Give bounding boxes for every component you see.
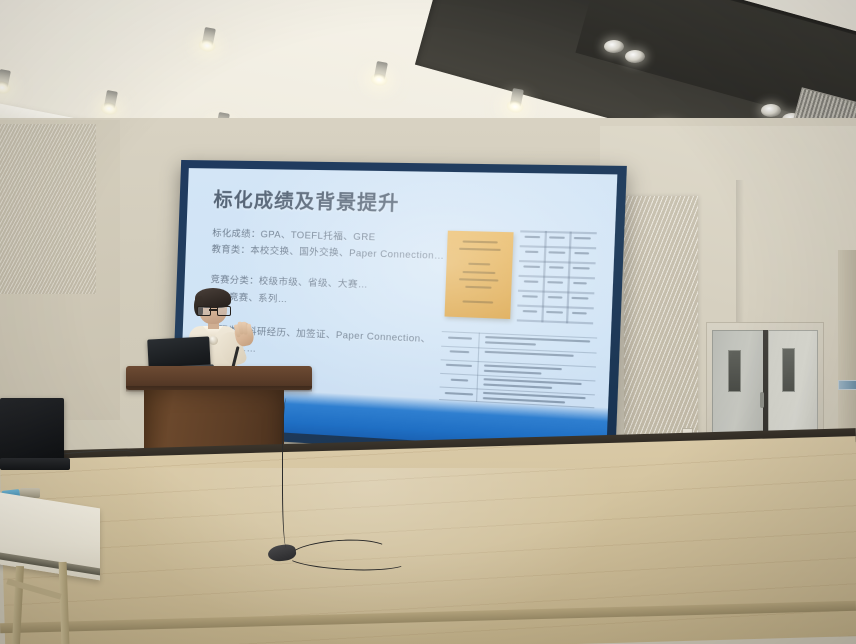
left-wall-texture xyxy=(0,124,96,294)
slide-comparison-table xyxy=(439,331,597,408)
spotlight-icon xyxy=(510,88,524,107)
exit-sign xyxy=(838,380,856,390)
lecture-hall-photo: 标化成绩及背景提升 标化成绩：GPA、TOEFL托福、GRE 教育类：本校交换、… xyxy=(0,0,856,644)
spotlight-icon xyxy=(374,61,388,80)
podium-cable xyxy=(282,398,293,548)
monitor-base xyxy=(0,458,70,470)
downlight-icon xyxy=(625,50,645,63)
spotlight-icon xyxy=(0,69,11,88)
spotlight-icon xyxy=(202,27,216,46)
slide-orange-document-image xyxy=(445,231,514,319)
monitor-screen[interactable] xyxy=(0,398,64,462)
slide-mini-table xyxy=(517,230,597,324)
door-handle[interactable] xyxy=(760,392,764,408)
slide-body-line: 教育类：本校交换、国外交换、Paper Connection… xyxy=(211,241,444,262)
door-window-left xyxy=(728,350,741,392)
slide-title: 标化成绩及背景提升 xyxy=(213,185,509,219)
acoustic-panel-column xyxy=(624,196,698,464)
downlight-icon xyxy=(604,40,624,53)
downlight-icon xyxy=(761,104,781,117)
door-window-right xyxy=(782,348,795,392)
slide-body-line: 标化成绩：GPA、TOEFL托福、GRE xyxy=(212,225,376,244)
glasses-icon xyxy=(197,306,229,314)
presenter-brooch xyxy=(209,336,218,345)
spotlight-icon xyxy=(104,90,118,109)
